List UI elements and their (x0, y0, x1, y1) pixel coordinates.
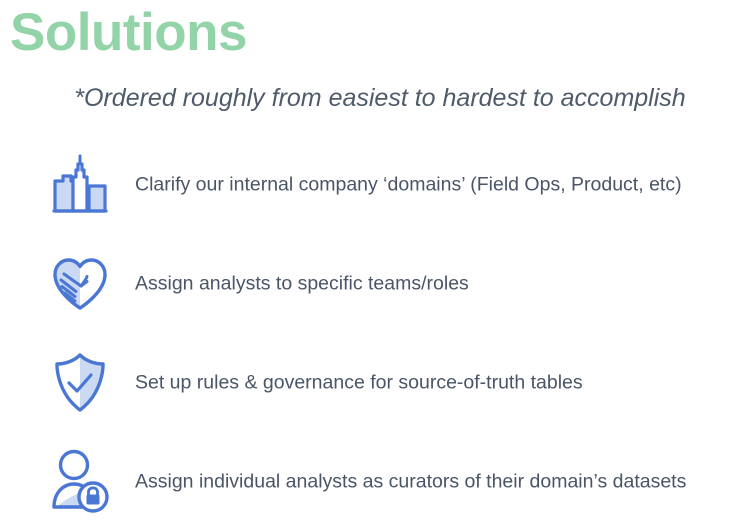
solutions-list: Clarify our internal company ‘domains’ (… (0, 135, 733, 531)
shield-check-icon (50, 350, 110, 416)
list-item-label: Assign individual analysts as curators o… (135, 469, 686, 494)
user-lock-icon (50, 449, 110, 515)
solutions-slide: Solutions *Ordered roughly from easiest … (0, 0, 733, 516)
heart-handshake-icon (50, 251, 110, 317)
list-item-label: Set up rules & governance for source-of-… (135, 370, 583, 395)
list-item: Assign analysts to specific teams/roles (0, 234, 733, 333)
list-item: Clarify our internal company ‘domains’ (… (0, 135, 733, 234)
list-item-label: Assign analysts to specific teams/roles (135, 271, 469, 296)
list-item: Assign individual analysts as curators o… (0, 432, 733, 531)
list-item: Set up rules & governance for source-of-… (0, 333, 733, 432)
city-buildings-icon (50, 152, 110, 218)
page-subtitle: *Ordered roughly from easiest to hardest… (70, 83, 690, 113)
page-title: Solutions (10, 4, 247, 62)
list-item-label: Clarify our internal company ‘domains’ (… (135, 172, 682, 197)
